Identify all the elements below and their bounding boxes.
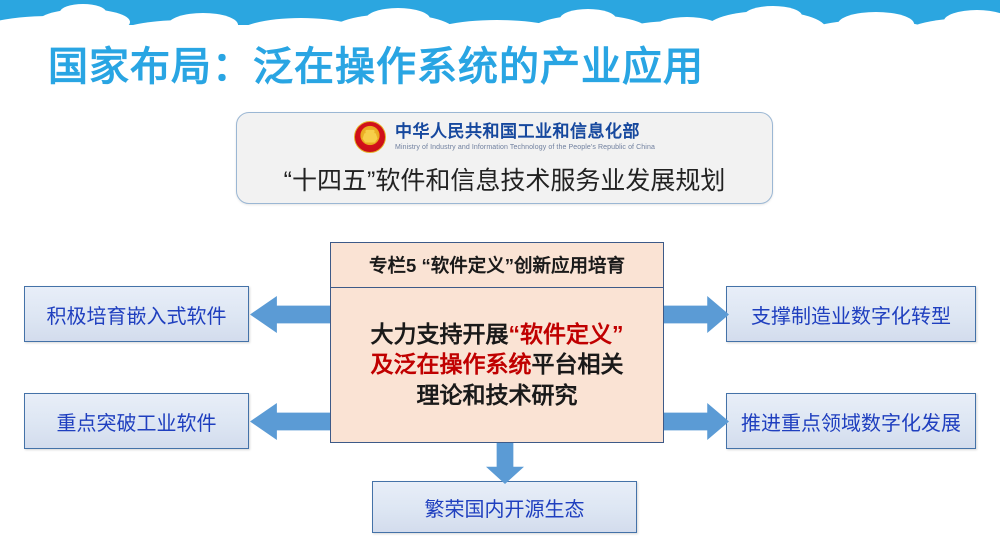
cloud-shape	[744, 6, 802, 26]
page-title: 国家布局：泛在操作系统的产业应用	[48, 34, 704, 92]
china-national-emblem-icon	[354, 121, 386, 153]
policy-card: 中华人民共和国工业和信息化部 Ministry of Industry and …	[236, 112, 773, 204]
ministry-name-en: Ministry of Industry and Information Tec…	[395, 144, 655, 151]
center-highlight-box: 专栏5 “软件定义”创新应用培育 大力支持开展“软件定义” 及泛在操作系统平台相…	[330, 242, 664, 443]
arrow-down-icon	[486, 443, 524, 484]
branch-box-left-1[interactable]: 积极培育嵌入式软件	[24, 286, 249, 342]
header-cloud-band	[0, 0, 1000, 34]
center-body-line1-highlight: “软件定义”	[509, 321, 624, 347]
ministry-name-block: 中华人民共和国工业和信息化部 Ministry of Industry and …	[395, 123, 655, 151]
center-body-line2-highlight: 及泛在操作系统	[371, 351, 532, 377]
branch-box-right-1[interactable]: 支撑制造业数字化转型	[726, 286, 976, 342]
cloud-shape	[60, 4, 106, 20]
center-body-line3: 理论和技术研究	[417, 382, 578, 408]
center-body-line1-plain: 大力支持开展	[371, 321, 509, 347]
branch-box-bottom[interactable]: 繁荣国内开源生态	[372, 481, 637, 533]
arrow-left-icon	[250, 296, 334, 333]
arrow-right-icon	[661, 403, 729, 440]
ministry-name-cn: 中华人民共和国工业和信息化部	[395, 123, 640, 140]
branch-box-left-2[interactable]: 重点突破工业软件	[24, 393, 249, 449]
center-body-line2-plain: 平台相关	[532, 351, 624, 377]
center-box-body: 大力支持开展“软件定义” 及泛在操作系统平台相关 理论和技术研究	[331, 288, 663, 441]
cloud-base-fill	[0, 25, 1000, 34]
policy-title: “十四五”软件和信息技术服务业发展规划	[237, 161, 772, 197]
arrow-right-icon	[661, 296, 729, 333]
arrow-left-icon	[250, 403, 334, 440]
ministry-identity-row: 中华人民共和国工业和信息化部 Ministry of Industry and …	[237, 121, 772, 153]
branch-box-right-2[interactable]: 推进重点领域数字化发展	[726, 393, 976, 449]
center-box-header: 专栏5 “软件定义”创新应用培育	[331, 243, 663, 288]
